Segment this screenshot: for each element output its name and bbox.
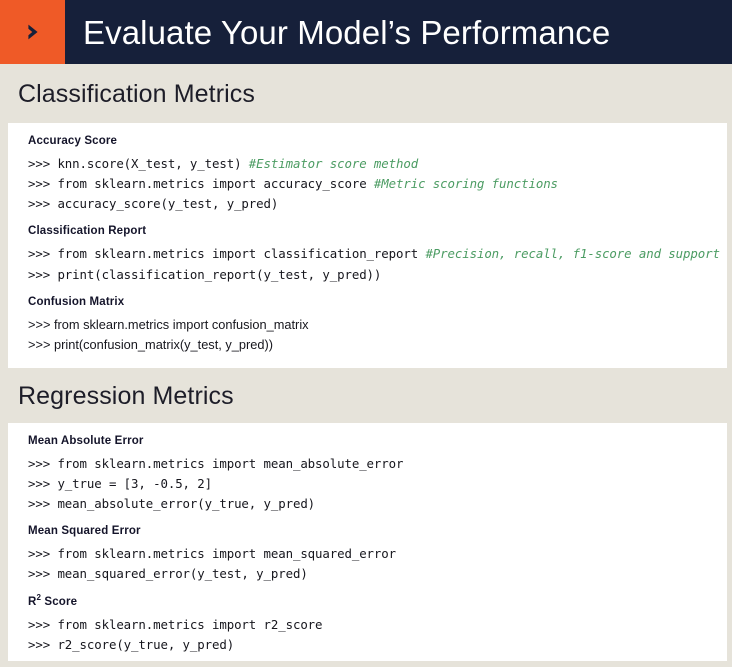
code-block-title: Accuracy Score bbox=[28, 135, 713, 147]
code-comment: #Metric scoring functions bbox=[374, 176, 558, 191]
code-line: >>> from sklearn.metrics import r2_score bbox=[28, 615, 713, 635]
code-snippet[interactable]: >>> from sklearn.metrics import mean_squ… bbox=[28, 544, 713, 584]
code-line: >>> print(confusion_matrix(y_test, y_pre… bbox=[28, 335, 713, 355]
code-line: >>> accuracy_score(y_test, y_pred) bbox=[28, 194, 713, 214]
code-text: >>> print(classification_report(y_test, … bbox=[28, 267, 381, 282]
page-title: Evaluate Your Model’s Performance bbox=[83, 16, 610, 49]
code-text: >>> knn.score(X_test, y_test) bbox=[28, 156, 249, 171]
footer-strip bbox=[0, 661, 732, 667]
code-snippet[interactable]: >>> from sklearn.metrics import classifi… bbox=[28, 244, 713, 284]
code-line: >>> print(classification_report(y_test, … bbox=[28, 265, 713, 285]
code-line: >>> mean_absolute_error(y_true, y_pred) bbox=[28, 494, 713, 514]
code-line: >>> from sklearn.metrics import confusio… bbox=[28, 315, 713, 335]
code-snippet[interactable]: >>> from sklearn.metrics import r2_score… bbox=[28, 615, 713, 655]
page-header: Evaluate Your Model’s Performance bbox=[0, 0, 732, 64]
code-text: >>> from sklearn.metrics import accuracy… bbox=[28, 176, 374, 191]
code-block-title: R2 Score bbox=[28, 596, 713, 608]
code-block-title: Mean Squared Error bbox=[28, 525, 713, 537]
code-block-title: Mean Absolute Error bbox=[28, 435, 713, 447]
code-block: Confusion Matrix>>> from sklearn.metrics… bbox=[8, 296, 727, 356]
cheatsheet-page: Evaluate Your Model’s Performance Classi… bbox=[0, 0, 732, 667]
code-text: >>> from sklearn.metrics import confusio… bbox=[28, 317, 309, 332]
code-block: R2 Score>>> from sklearn.metrics import … bbox=[8, 596, 727, 655]
section-title: Classification Metrics bbox=[18, 80, 732, 109]
code-line: >>> from sklearn.metrics import mean_abs… bbox=[28, 454, 713, 474]
code-text: >>> from sklearn.metrics import mean_abs… bbox=[28, 456, 403, 471]
code-block: Mean Absolute Error>>> from sklearn.metr… bbox=[8, 435, 727, 515]
code-block-title: Confusion Matrix bbox=[28, 296, 713, 308]
section-band: Regression Metrics bbox=[0, 368, 732, 423]
code-text: >>> from sklearn.metrics import classifi… bbox=[28, 246, 425, 261]
section-card: Accuracy Score>>> knn.score(X_test, y_te… bbox=[8, 123, 727, 368]
code-block: Accuracy Score>>> knn.score(X_test, y_te… bbox=[8, 135, 727, 215]
header-title-container: Evaluate Your Model’s Performance bbox=[65, 0, 732, 64]
content-area: Classification MetricsAccuracy Score>>> … bbox=[0, 64, 732, 667]
code-text: >>> mean_absolute_error(y_true, y_pred) bbox=[28, 496, 315, 511]
code-text: >>> print(confusion_matrix(y_test, y_pre… bbox=[28, 337, 273, 352]
code-comment: #Precision, recall, f1-score and support bbox=[425, 246, 719, 261]
code-comment: #Estimator score method bbox=[249, 156, 418, 171]
code-line: >>> from sklearn.metrics import mean_squ… bbox=[28, 544, 713, 564]
code-line: >>> from sklearn.metrics import accuracy… bbox=[28, 174, 713, 194]
code-snippet[interactable]: >>> from sklearn.metrics import mean_abs… bbox=[28, 454, 713, 515]
code-text: >>> mean_squared_error(y_test, y_pred) bbox=[28, 566, 308, 581]
sections-root: Classification MetricsAccuracy Score>>> … bbox=[0, 64, 732, 667]
section-card: Mean Absolute Error>>> from sklearn.metr… bbox=[8, 423, 727, 667]
section-title: Regression Metrics bbox=[18, 382, 732, 411]
code-snippet[interactable]: >>> knn.score(X_test, y_test) #Estimator… bbox=[28, 154, 713, 215]
code-snippet[interactable]: >>> from sklearn.metrics import confusio… bbox=[28, 315, 713, 356]
code-text: >>> y_true = [3, -0.5, 2] bbox=[28, 476, 212, 491]
code-text: >>> r2_score(y_true, y_pred) bbox=[28, 637, 234, 652]
code-text: >>> accuracy_score(y_test, y_pred) bbox=[28, 196, 278, 211]
header-badge bbox=[0, 0, 65, 64]
code-block-title: Classification Report bbox=[28, 225, 713, 237]
code-block: Mean Squared Error>>> from sklearn.metri… bbox=[8, 525, 727, 584]
code-text: >>> from sklearn.metrics import mean_squ… bbox=[28, 546, 396, 561]
code-line: >>> y_true = [3, -0.5, 2] bbox=[28, 474, 713, 494]
code-block-title-suffix: Score bbox=[41, 596, 77, 608]
chevron-right-icon bbox=[22, 21, 44, 43]
code-line: >>> from sklearn.metrics import classifi… bbox=[28, 244, 713, 264]
code-line: >>> r2_score(y_true, y_pred) bbox=[28, 635, 713, 655]
code-line: >>> mean_squared_error(y_test, y_pred) bbox=[28, 564, 713, 584]
code-block: Classification Report>>> from sklearn.me… bbox=[8, 225, 727, 284]
code-text: >>> from sklearn.metrics import r2_score bbox=[28, 617, 322, 632]
section-band: Classification Metrics bbox=[0, 64, 732, 123]
code-line: >>> knn.score(X_test, y_test) #Estimator… bbox=[28, 154, 713, 174]
